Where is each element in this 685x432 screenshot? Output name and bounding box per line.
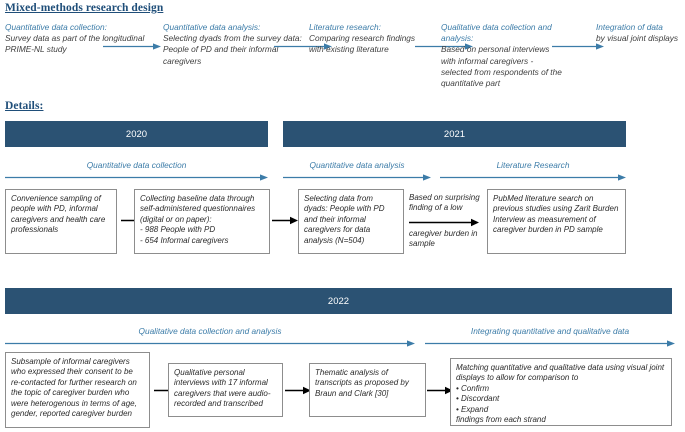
year-bar-2022: 2022 (5, 288, 672, 314)
phase-label-qualitative-collection-analysis: Qualitative data collection and analysis (5, 326, 415, 336)
detail-box-baseline-data-people-with-pd: - 988 People with PD (140, 225, 264, 235)
phase-label-quantitative-data-collection: Quantitative data collection (5, 160, 268, 170)
phase-arrow-2-icon (283, 173, 431, 182)
detail-box-pubmed-search: PubMed literature search on previous stu… (487, 189, 626, 254)
phase-arrow-4-icon (5, 339, 415, 348)
year-bar-2020: 2020 (5, 121, 268, 147)
phase-label-quantitative-data-analysis: Quantitative data analysis (283, 160, 431, 170)
detail-box-convenience-sampling-text: Convenience sampling of people with PD, … (11, 194, 111, 236)
detail-box-matching-data-outro: findings from each strand (456, 415, 666, 425)
overview-step-5-body: by visual joint displays (596, 33, 685, 44)
detail-box-matching-data-intro: Matching quantitative and qualitative da… (456, 363, 666, 384)
detail-box-matching-data-bullet-confirm: • Confirm (456, 384, 666, 394)
page-title: Mixed-methods research design (5, 2, 163, 14)
overview-step-5: Integration of data by visual joint disp… (596, 22, 685, 44)
phase-label-integrating-data: Integrating quantitative and qualitative… (425, 326, 675, 336)
year-bar-2021-label: 2021 (444, 129, 465, 140)
detail-box-pubmed-search-text: PubMed literature search on previous stu… (493, 194, 620, 236)
overview-step-3-heading: Literature research: (309, 22, 419, 33)
connector-arrow-2-icon (272, 216, 298, 225)
overview-step-2-heading: Quantitative data analysis: (163, 22, 303, 33)
research-design-figure: Mixed-methods research design Details: Q… (0, 0, 685, 432)
connector-arrow-3-icon (409, 218, 479, 227)
detail-box-convenience-sampling: Convenience sampling of people with PD, … (5, 189, 117, 254)
connector-arrow-5-icon (285, 386, 311, 395)
detail-box-matching-data: Matching quantitative and qualitative da… (450, 358, 672, 426)
overview-step-4-body: Based on personal interviews with inform… (441, 44, 566, 89)
detail-box-matching-data-bullet-expand: • Expand (456, 405, 666, 415)
overview-step-5-heading: Integration of data (596, 22, 685, 33)
detail-box-baseline-data: Collecting baseline data through self-ad… (134, 189, 270, 254)
overview-step-3-body: Comparing research findings with existin… (309, 33, 419, 55)
detail-box-subsample-caregivers: Subsample of informal caregivers who exp… (5, 352, 150, 428)
detail-box-matching-data-bullet-discordant: • Discordant (456, 394, 666, 404)
phase-arrow-3-icon (440, 173, 626, 182)
detail-box-qualitative-interviews: Qualitative personal interviews with 17 … (168, 363, 283, 417)
annotation-below-arrow: caregiver burden in sample (409, 229, 483, 250)
details-heading: Details: (5, 100, 43, 112)
detail-box-baseline-data-intro: Collecting baseline data through self-ad… (140, 194, 264, 225)
year-bar-2021: 2021 (283, 121, 626, 147)
overview-step-4-heading: Qualitative data collection and analysis… (441, 22, 566, 44)
phase-label-literature-research: Literature Research (440, 160, 626, 170)
overview-arrow-1-icon (103, 42, 161, 51)
detail-box-selecting-dyads-text: Selecting data from dyads: People with P… (304, 194, 398, 246)
detail-box-thematic-analysis-text: Thematic analysis of transcripts as prop… (315, 368, 420, 399)
phase-arrow-5-icon (425, 339, 675, 348)
detail-box-selecting-dyads: Selecting data from dyads: People with P… (298, 189, 404, 254)
year-bar-2020-label: 2020 (126, 129, 147, 140)
annotation-above-arrow: Based on surprising finding of a low (409, 193, 485, 214)
phase-arrow-1-icon (5, 173, 268, 182)
detail-box-qualitative-interviews-text: Qualitative personal interviews with 17 … (174, 368, 277, 410)
overview-step-1-heading: Quantitative data collection: (5, 22, 145, 33)
overview-step-4: Qualitative data collection and analysis… (441, 22, 566, 89)
year-bar-2022-label: 2022 (328, 296, 349, 307)
detail-box-baseline-data-informal-caregivers: - 654 Informal caregivers (140, 236, 264, 246)
detail-box-subsample-caregivers-text: Subsample of informal caregivers who exp… (11, 357, 144, 419)
overview-step-3: Literature research: Comparing research … (309, 22, 419, 56)
detail-box-thematic-analysis: Thematic analysis of transcripts as prop… (309, 363, 426, 417)
